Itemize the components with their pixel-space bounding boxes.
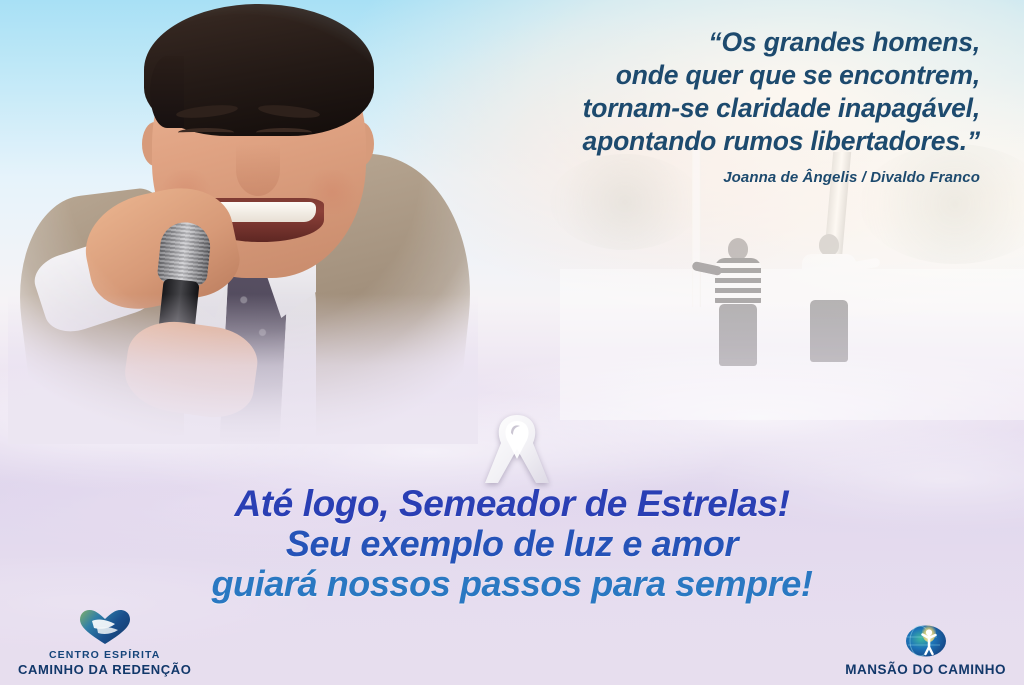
- quote-line-1: “Os grandes homens,: [420, 26, 980, 59]
- figure-head: [728, 238, 748, 260]
- quote-line-4: apontando rumos libertadores.”: [420, 125, 980, 158]
- memorial-poster: “Os grandes homens, onde quer que se enc…: [0, 0, 1024, 685]
- eye-right-closed: [256, 128, 312, 137]
- eye-left-closed: [178, 128, 234, 137]
- logo-left-text: CENTRO ESPÍRITA CAMINHO DA REDENÇÃO: [18, 649, 191, 677]
- scene-figure-white-shirt: [798, 234, 860, 366]
- quote-attribution: Joanna de Ângelis / Divaldo Franco: [420, 169, 980, 186]
- globe-figure-icon: [898, 620, 954, 658]
- quote-line-3: tornam-se claridade inapagável,: [420, 92, 980, 125]
- figure-torso: [802, 254, 856, 302]
- figure-legs: [810, 300, 848, 362]
- logo-right-line-2: MANSÃO DO CAMINHO: [845, 662, 1006, 677]
- headline-line-1: Até logo, Semeador de Estrelas!: [0, 484, 1024, 524]
- logo-mansao-do-caminho: MANSÃO DO CAMINHO: [845, 620, 1006, 677]
- nose: [236, 144, 280, 196]
- logo-left-line-2: CAMINHO DA REDENÇÃO: [18, 662, 191, 677]
- scene-figure-striped-shirt: [710, 238, 766, 366]
- headline-block: Até logo, Semeador de Estrelas! Seu exem…: [0, 484, 1024, 604]
- logo-centro-espirita: CENTRO ESPÍRITA CAMINHO DA REDENÇÃO: [18, 608, 191, 677]
- scene-ground: [560, 296, 1024, 420]
- microphone-head: [156, 220, 212, 287]
- headline-line-3: guiará nossos passos para sempre!: [0, 564, 1024, 604]
- quote-block: “Os grandes homens, onde quer que se enc…: [420, 26, 980, 186]
- heart-hands-icon: [77, 608, 133, 646]
- logo-left-line-1: CENTRO ESPÍRITA: [18, 649, 191, 661]
- headline-line-2: Seu exemplo de luz e amor: [0, 524, 1024, 564]
- figure-legs: [719, 304, 757, 366]
- scene-fence: [850, 272, 960, 307]
- figure-torso: [715, 258, 761, 306]
- quote-line-2: onde quer que se encontrem,: [420, 59, 980, 92]
- portrait-photo: [8, 0, 478, 444]
- portrait-bottom-fade: [8, 294, 478, 444]
- background-scene-walking-figures: [560, 150, 1024, 420]
- logo-right-text: MANSÃO DO CAMINHO: [845, 661, 1006, 677]
- white-mourning-ribbon: [481, 409, 553, 489]
- figure-head: [819, 234, 839, 256]
